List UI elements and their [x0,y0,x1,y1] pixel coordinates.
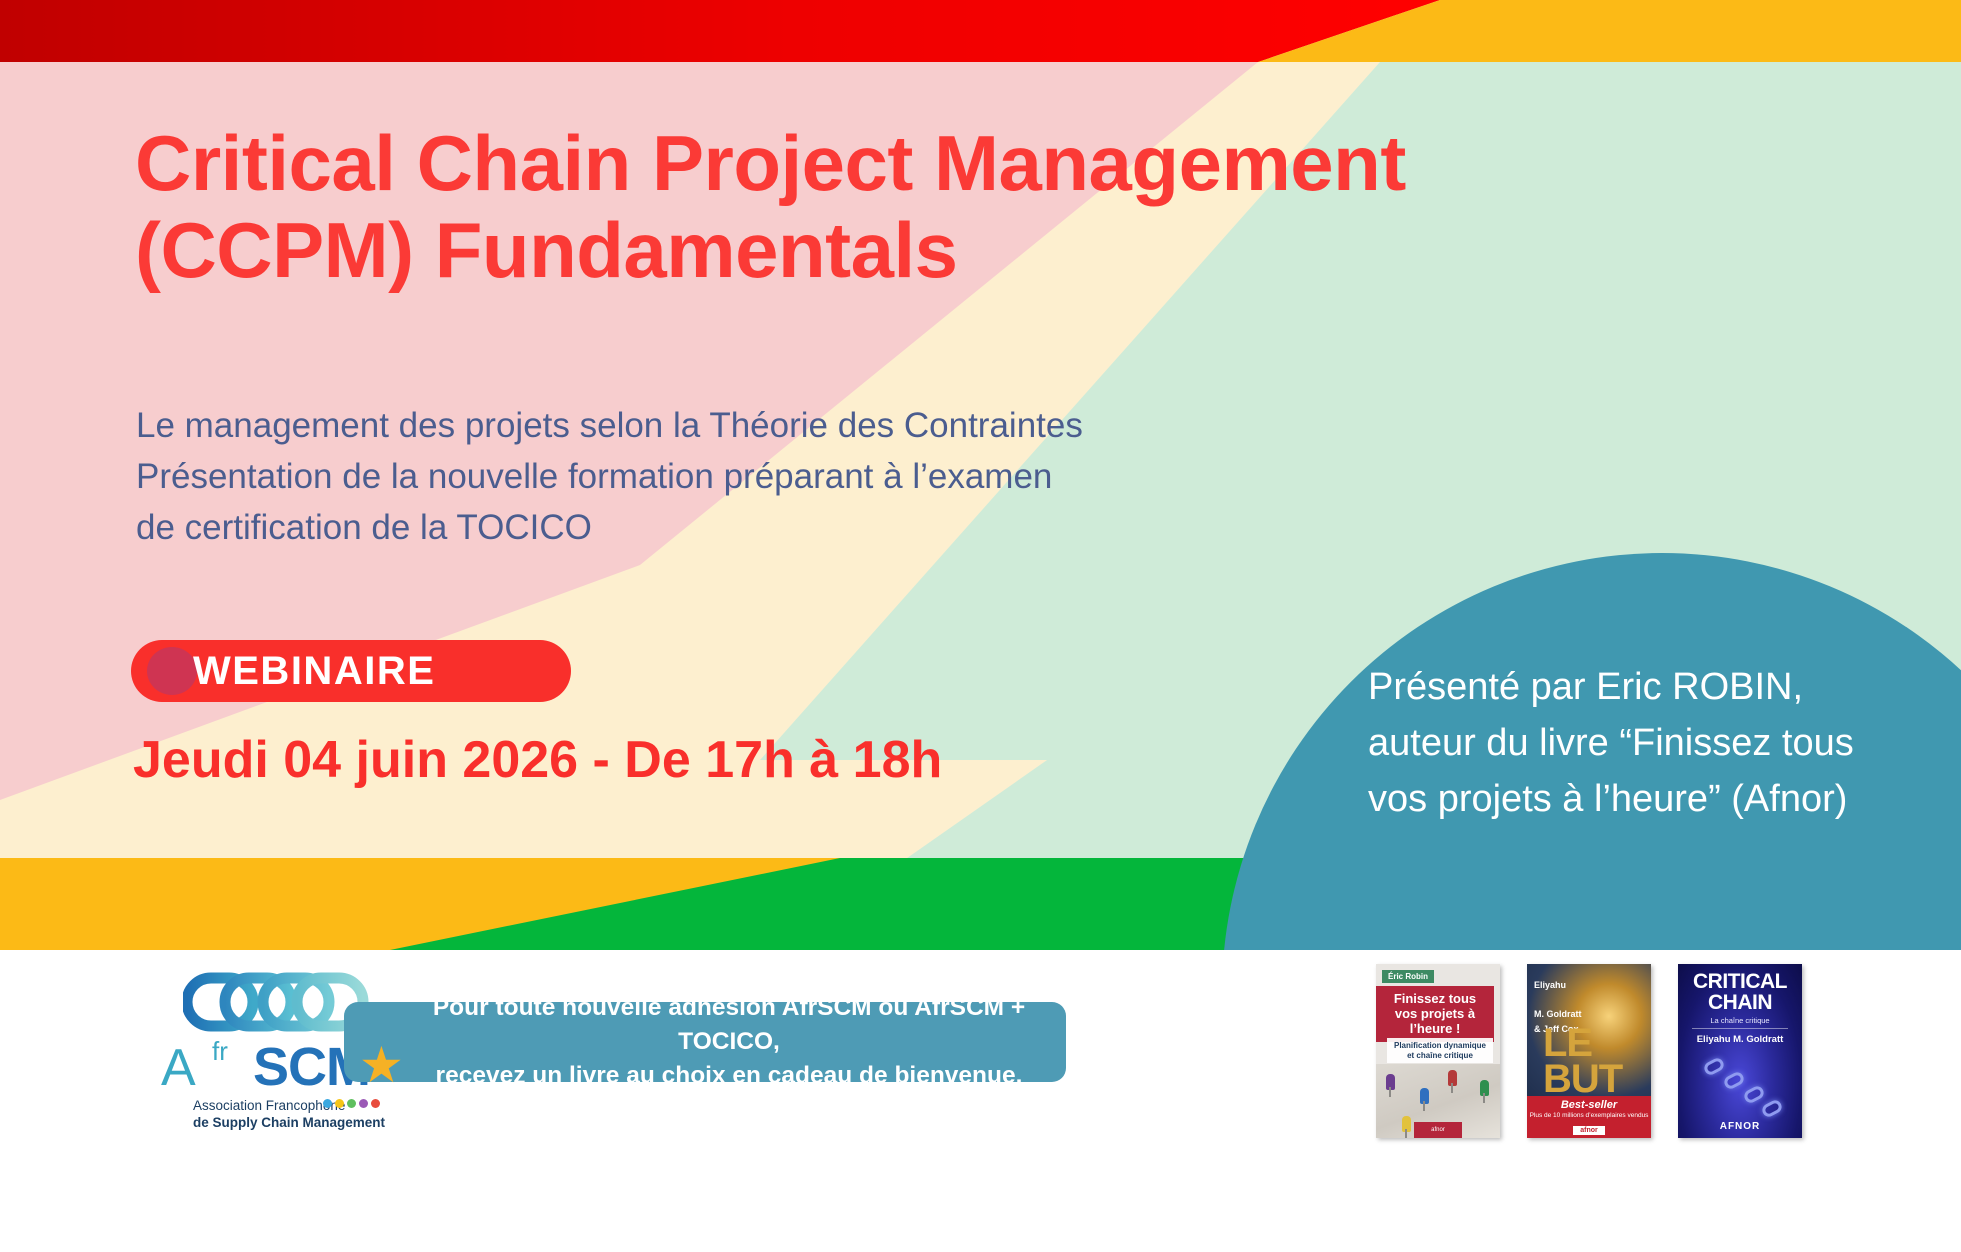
offer-line-2: recevez un livre au choix en cadeau de b… [436,1062,1023,1089]
offer-text: Pour toute nouvelle adhésion AfrSCM ou A… [404,991,1054,1094]
book-2-badge: Best-seller [1527,1099,1651,1111]
subtitle-line-2: Présentation de la nouvelle formation pr… [136,451,1336,502]
book-2-copies: Plus de 10 millions d’exemplaires vendus [1527,1112,1651,1119]
webinar-poster: Critical Chain Project Management (CCPM)… [0,0,1961,1252]
logo-letter-a: A [161,1038,194,1098]
badge-dot-icon [147,647,197,695]
headline-line-1: Critical Chain Project Management [135,120,1815,207]
page-title: Critical Chain Project Management (CCPM)… [135,120,1815,293]
book-3-author: Eliyahu M. Goldratt [1678,1034,1802,1045]
book-3-publisher: AFNOR [1678,1121,1802,1132]
chain-link-icon-1 [1702,1056,1726,1077]
pin-icon-purple [1386,1074,1395,1090]
subtitle-block: Le management des projets selon la Théor… [136,400,1336,553]
book-2-author-line-1: Eliyahu [1534,980,1582,992]
star-icon: ★ [359,1040,409,1090]
pin-icon-red [1448,1070,1457,1086]
book-2-publisher: afnor [1573,1126,1605,1135]
book-1-author: Éric Robin [1382,970,1434,983]
poster-content: Critical Chain Project Management (CCPM)… [0,0,1961,950]
event-date: Jeudi 04 juin 2026 - De 17h à 18h [133,730,942,790]
footer-bar: A fr SCM Association Francophone de Supp… [0,950,1961,1252]
book-3-title-line-1: CRITICAL [1693,970,1787,993]
book-1-title: Finissez tous vos projets à l’heure ! [1376,986,1494,1042]
membership-offer-banner: ★ Pour toute nouvelle adhésion AfrSCM ou… [344,1002,1066,1082]
book-2-author-line-2: M. Goldratt [1534,1009,1582,1021]
presenter-text: Présenté par Eric ROBIN, auteur du livre… [1368,660,1898,828]
status-badge: WEBINAIRE [131,640,571,702]
book-cover-critical-chain: CRITICAL CHAIN La chaîne critique Eliyah… [1678,964,1802,1138]
badge-label: WEBINAIRE [193,651,435,691]
chain-link-icon-4 [1760,1098,1784,1119]
pin-icon-yellow [1402,1116,1411,1132]
logo-dot-1 [323,1099,332,1108]
book-1-subtitle-line-2: et chaîne critique [1407,1051,1473,1060]
book-3-subtitle: La chaîne critique [1678,1016,1802,1025]
subtitle-line-3: de certification de la TOCICO [136,502,1336,553]
book-1-subtitle-line-1: Planification dynamique [1394,1041,1486,1050]
logo-color-dots [323,1099,380,1108]
logo-tagline-line-2: de Supply Chain Management [193,1115,385,1130]
book-2-title-line-1: LE [1543,1026,1592,1060]
book-cover-le-but: Eliyahu M. Goldratt & Jeff Cox LE BUT Be… [1527,964,1651,1138]
subtitle-line-1: Le management des projets selon la Théor… [136,400,1336,451]
book-3-title: CRITICAL CHAIN [1678,972,1802,1013]
pin-icon-green [1480,1080,1489,1096]
logo-letters-fr: fr [212,1036,228,1067]
logo-dot-3 [347,1099,356,1108]
logo-dot-2 [335,1099,344,1108]
pin-icon-blue [1420,1088,1429,1104]
book-3-title-line-2: CHAIN [1708,991,1772,1014]
book-3-divider [1692,1028,1788,1029]
book-cover-finissez: Éric Robin Finissez tous vos projets à l… [1376,964,1500,1138]
headline-line-2: (CCPM) Fundamentals [135,207,1815,294]
chain-link-icon-3 [1742,1084,1766,1105]
book-2-title-line-2: BUT [1543,1062,1622,1096]
logo-dot-5 [371,1099,380,1108]
chain-link-icon-2 [1722,1070,1746,1091]
chain-links-icon [183,972,369,1039]
book-1-subtitle: Planification dynamique et chaîne critiq… [1387,1038,1493,1063]
book-2-banner: Best-seller Plus de 10 millions d’exempl… [1527,1096,1651,1138]
offer-line-1: Pour toute nouvelle adhésion AfrSCM ou A… [433,994,1025,1055]
logo-dot-4 [359,1099,368,1108]
book-1-publisher: afnor [1414,1122,1462,1138]
